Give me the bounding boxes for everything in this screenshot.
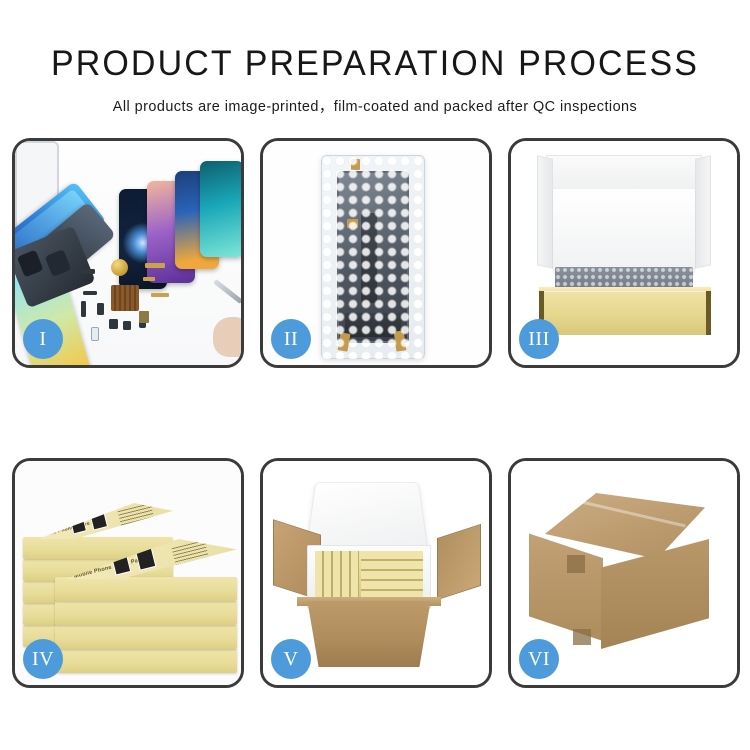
component-bar-icon — [77, 269, 95, 274]
page-subtitle: All products are image-printed，film-coat… — [4, 95, 747, 116]
kraft-carton-open-icon — [299, 601, 439, 667]
battery-connector-icon — [139, 311, 149, 323]
panel-step-5: V — [260, 458, 492, 688]
spec-text-lines — [171, 538, 209, 566]
retail-box-side — [55, 601, 237, 625]
step-badge: II — [271, 319, 311, 359]
step-badge: III — [519, 319, 559, 359]
product-window-black — [89, 508, 108, 530]
panel-step-6: VI — [508, 458, 740, 688]
ic-chip-grid-icon — [111, 285, 139, 311]
corner-tape-patch-icon — [567, 555, 585, 573]
step-badge: I — [23, 319, 63, 359]
technician-hand-icon — [213, 317, 244, 357]
step-badge: VI — [519, 639, 559, 679]
camera-lens-icon — [91, 327, 99, 341]
page-title: PRODUCT PREPARATION PROCESS — [11, 46, 739, 81]
white-foam-padding-icon — [553, 189, 695, 273]
step-badge: IV — [23, 639, 63, 679]
component-bar-icon — [83, 291, 97, 295]
retail-box-side — [55, 625, 237, 649]
kraft-carton-sealed-icon — [527, 493, 721, 653]
flex-cable-icon — [145, 263, 165, 268]
kraft-tape-icon — [338, 332, 351, 351]
component-bar-icon — [97, 303, 104, 315]
page-header: PRODUCT PREPARATION PROCESS All products… — [0, 0, 750, 116]
wrapped-display-part-icon — [337, 171, 409, 343]
panel-step-3: III — [508, 138, 740, 368]
panel-step-2: II — [260, 138, 492, 368]
step-badge: V — [271, 639, 311, 679]
component-bar-icon — [123, 321, 131, 330]
product-preparation-infographic: PRODUCT PREPARATION PROCESS All products… — [0, 0, 750, 750]
lcd-display-assembly-teal-icon — [200, 161, 244, 257]
stacked-yellow-boxes-inside-icon — [315, 551, 423, 599]
product-window-black — [69, 514, 87, 535]
retail-box-side — [55, 649, 237, 673]
kraft-tape-icon — [351, 159, 360, 170]
spec-text-lines — [117, 501, 155, 529]
bubble-wrap-bag-icon — [321, 155, 425, 359]
panel-step-1: I — [12, 138, 244, 368]
kraft-tape-icon — [347, 219, 358, 228]
styrofoam-lid-icon — [306, 482, 428, 547]
component-bar-icon — [81, 301, 86, 317]
component-bar-icon — [109, 319, 118, 329]
retail-box-top-face: Mobile Phone Spare Parts — [23, 503, 173, 539]
carton-left-face — [529, 529, 603, 641]
carton-right-face — [601, 539, 709, 649]
corner-tape-patch-icon — [573, 629, 591, 645]
carton-flap-right-icon — [437, 524, 481, 600]
retail-box-side — [55, 577, 237, 601]
box-flap-left-icon — [537, 155, 553, 268]
screwdriver-icon — [213, 279, 243, 304]
flex-cable-icon — [151, 293, 169, 297]
flex-cable-icon — [143, 277, 155, 281]
box-flap-right-icon — [695, 155, 711, 268]
yellow-inner-box-icon — [539, 291, 711, 335]
panel-step-4: Mobile Phone Spare Parts Mobile Phone Sp… — [12, 458, 244, 688]
process-panel-grid: I II — [12, 138, 740, 678]
gold-coin-component-icon — [111, 259, 128, 276]
